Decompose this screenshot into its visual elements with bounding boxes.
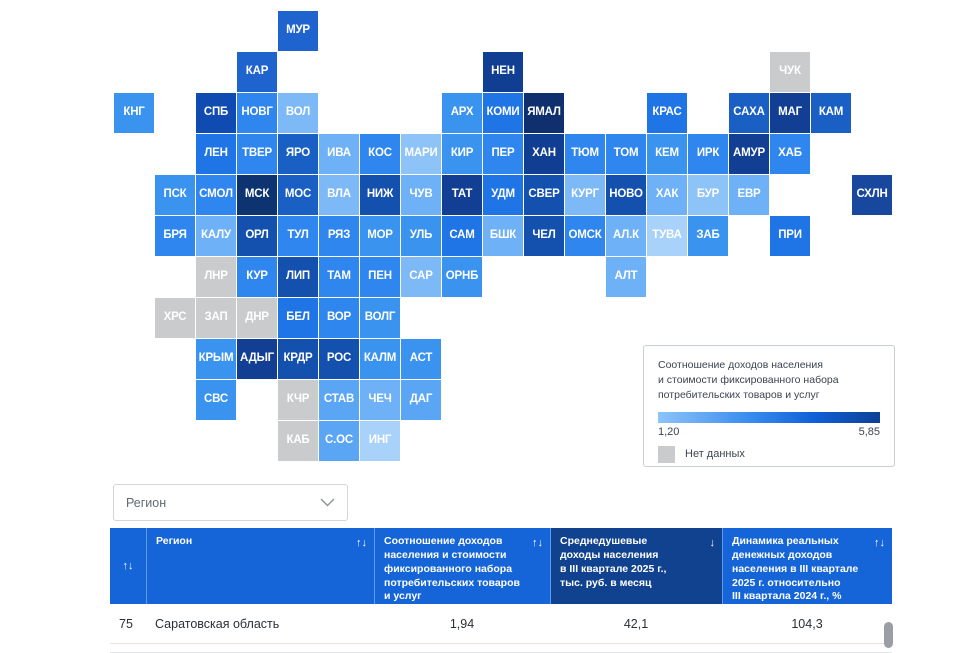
- map-tile-СПБ[interactable]: СПБ: [196, 93, 236, 133]
- map-tile-ЛНР[interactable]: ЛНР: [196, 257, 236, 297]
- legend-nodata-label: Нет данных: [685, 448, 745, 460]
- map-tile-СТАВ[interactable]: СТАВ: [319, 380, 359, 420]
- legend-nodata-swatch: [658, 446, 675, 463]
- map-tile-НОВГ[interactable]: НОВГ: [237, 93, 277, 133]
- map-tile-КОС[interactable]: КОС: [360, 134, 400, 174]
- map-tile-ИРК[interactable]: ИРК: [688, 134, 728, 174]
- map-tile-АЛ.К[interactable]: АЛ.К: [606, 216, 646, 256]
- map-tile-ЕВР[interactable]: ЕВР: [729, 175, 769, 215]
- row-dynamics-value: 104,3: [722, 617, 892, 631]
- map-tile-ВОЛ[interactable]: ВОЛ: [278, 93, 318, 133]
- map-tile-СВС[interactable]: СВС: [196, 380, 236, 420]
- sort-toggle-icon-1[interactable]: ↑↓: [356, 536, 367, 551]
- map-tile-ТЮМ[interactable]: ТЮМ: [565, 134, 605, 174]
- map-tile-МСК[interactable]: МСК: [237, 175, 277, 215]
- map-tile-КАБ[interactable]: КАБ: [278, 421, 318, 461]
- sort-toggle-icon-3[interactable]: ↓: [710, 536, 716, 551]
- map-tile-МОС[interactable]: МОС: [278, 175, 318, 215]
- legend-nodata-row: Нет данных: [658, 446, 880, 463]
- row-income-value: 42,1: [550, 617, 722, 631]
- map-tile-ВОЛГ[interactable]: ВОЛГ: [360, 298, 400, 338]
- map-tile-ЯРО[interactable]: ЯРО: [278, 134, 318, 174]
- map-tile-МУР[interactable]: МУР: [278, 11, 318, 51]
- map-tile-СМОЛ[interactable]: СМОЛ: [196, 175, 236, 215]
- table-header-cell-3[interactable]: Среднедушевые доходы населения в III ква…: [550, 528, 722, 604]
- map-tile-НИЖ[interactable]: НИЖ: [360, 175, 400, 215]
- map-tile-МАГ[interactable]: МАГ: [770, 93, 810, 133]
- map-tile-СХЛН[interactable]: СХЛН: [852, 175, 892, 215]
- map-tile-ЧЕЛ[interactable]: ЧЕЛ: [524, 216, 564, 256]
- map-tile-АДЫГ[interactable]: АДЫГ: [237, 339, 277, 379]
- chevron-down-icon: [320, 498, 335, 507]
- region-filter-label: Регион: [126, 496, 320, 510]
- map-tile-ВЛА[interactable]: ВЛА: [319, 175, 359, 215]
- map-tile-ПЕН[interactable]: ПЕН: [360, 257, 400, 297]
- map-tile-РЯЗ[interactable]: РЯЗ: [319, 216, 359, 256]
- map-tile-ТУВА[interactable]: ТУВА: [647, 216, 687, 256]
- map-tile-БУР[interactable]: БУР: [688, 175, 728, 215]
- map-tile-КРЫМ[interactable]: КРЫМ: [196, 339, 236, 379]
- map-tile-ВОР[interactable]: ВОР: [319, 298, 359, 338]
- map-tile-НОВО[interactable]: НОВО: [606, 175, 646, 215]
- map-tile-САМ[interactable]: САМ: [442, 216, 482, 256]
- sort-toggle-icon-2[interactable]: ↑↓: [532, 536, 543, 551]
- map-tile-ДНР[interactable]: ДНР: [237, 298, 277, 338]
- map-tile-ИВА[interactable]: ИВА: [319, 134, 359, 174]
- map-tile-АЛТ[interactable]: АЛТ: [606, 257, 646, 297]
- map-tile-С.ОС[interactable]: С.ОС: [319, 421, 359, 461]
- map-tile-ЧУК[interactable]: ЧУК: [770, 52, 810, 92]
- sort-toggle-icon-0[interactable]: ↑↓: [123, 559, 134, 574]
- table-header-label-4: Динамика реальных денежных доходов насел…: [732, 535, 858, 602]
- map-tile-СВЕР[interactable]: СВЕР: [524, 175, 564, 215]
- map-tile-БРЯ[interactable]: БРЯ: [155, 216, 195, 256]
- map-tile-КЧР[interactable]: КЧР: [278, 380, 318, 420]
- table-header-row: ↑↓Регион↑↓Соотношение доходов населения …: [110, 528, 892, 604]
- map-tile-КЕМ[interactable]: КЕМ: [647, 134, 687, 174]
- map-tile-ОРНБ[interactable]: ОРНБ: [442, 257, 482, 297]
- map-tile-ОРЛ[interactable]: ОРЛ: [237, 216, 277, 256]
- legend-scale: 1,20 5,85: [658, 426, 880, 438]
- row-index: 75: [110, 617, 146, 631]
- map-tile-АМУР[interactable]: АМУР: [729, 134, 769, 174]
- map-tile-АРХ[interactable]: АРХ: [442, 93, 482, 133]
- map-tile-ЯМАЛ[interactable]: ЯМАЛ: [524, 93, 564, 133]
- map-tile-ТВЕР[interactable]: ТВЕР: [237, 134, 277, 174]
- map-tile-БШК[interactable]: БШК: [483, 216, 523, 256]
- map-tile-МАРИ[interactable]: МАРИ: [401, 134, 441, 174]
- map-tile-КУР[interactable]: КУР: [237, 257, 277, 297]
- map-tile-ХРС[interactable]: ХРС: [155, 298, 195, 338]
- region-filter-dropdown[interactable]: Регион: [113, 484, 348, 521]
- map-tile-КИР[interactable]: КИР: [442, 134, 482, 174]
- map-tile-ТАМ[interactable]: ТАМ: [319, 257, 359, 297]
- map-tile-КОМИ[interactable]: КОМИ: [483, 93, 523, 133]
- legend-min-label: 1,20: [658, 426, 679, 438]
- row-ratio-value: 1,94: [374, 617, 550, 631]
- map-tile-ЗАП[interactable]: ЗАП: [196, 298, 236, 338]
- map-legend: Соотношение доходов населения и стоимост…: [643, 345, 895, 467]
- map-tile-УДМ[interactable]: УДМ: [483, 175, 523, 215]
- row-region-name: Саратовская область: [146, 617, 374, 631]
- map-tile-ЛЕН[interactable]: ЛЕН: [196, 134, 236, 174]
- map-tile-ТОМ[interactable]: ТОМ: [606, 134, 646, 174]
- map-tile-ПСК[interactable]: ПСК: [155, 175, 195, 215]
- legend-max-label: 5,85: [859, 426, 880, 438]
- map-tile-ЛИП[interactable]: ЛИП: [278, 257, 318, 297]
- regions-table: ↑↓Регион↑↓Соотношение доходов населения …: [110, 528, 892, 644]
- map-tile-ХАК[interactable]: ХАК: [647, 175, 687, 215]
- table-header-label-1: Регион: [156, 535, 192, 547]
- map-tile-КРАС[interactable]: КРАС: [647, 93, 687, 133]
- table-header-cell-2[interactable]: Соотношение доходов населения и стоимост…: [374, 528, 550, 604]
- map-tile-КРДР[interactable]: КРДР: [278, 339, 318, 379]
- map-tile-ХАБ[interactable]: ХАБ: [770, 134, 810, 174]
- legend-title: Соотношение доходов населения и стоимост…: [658, 358, 880, 404]
- map-tile-КАЛУ[interactable]: КАЛУ: [196, 216, 236, 256]
- map-tile-САХА[interactable]: САХА: [729, 93, 769, 133]
- table-header-label-2: Соотношение доходов населения и стоимост…: [384, 535, 520, 602]
- map-tile-ХАН[interactable]: ХАН: [524, 134, 564, 174]
- table-header-cell-0[interactable]: ↑↓: [110, 528, 146, 604]
- map-tile-КАМ[interactable]: КАМ: [811, 93, 851, 133]
- map-tile-ТАТ[interactable]: ТАТ: [442, 175, 482, 215]
- map-tile-РОС[interactable]: РОС: [319, 339, 359, 379]
- map-tile-МОР[interactable]: МОР: [360, 216, 400, 256]
- map-tile-ПЕР[interactable]: ПЕР: [483, 134, 523, 174]
- map-tile-ОМСК[interactable]: ОМСК: [565, 216, 605, 256]
- map-tile-ПРИ[interactable]: ПРИ: [770, 216, 810, 256]
- map-tile-ИНГ[interactable]: ИНГ: [360, 421, 400, 461]
- sort-toggle-icon-4[interactable]: ↑↓: [874, 536, 885, 551]
- map-tile-САР[interactable]: САР: [401, 257, 441, 297]
- map-tile-КАР[interactable]: КАР: [237, 52, 277, 92]
- table-row[interactable]: 75Саратовская область1,9442,1104,3: [110, 604, 892, 644]
- map-tile-КАЛМ[interactable]: КАЛМ: [360, 339, 400, 379]
- legend-color-ramp: [658, 412, 880, 423]
- map-tile-ЧЕЧ[interactable]: ЧЕЧ: [360, 380, 400, 420]
- map-tile-КУРГ[interactable]: КУРГ: [565, 175, 605, 215]
- map-tile-АСТ[interactable]: АСТ: [401, 339, 441, 379]
- map-tile-ЗАБ[interactable]: ЗАБ: [688, 216, 728, 256]
- table-header-cell-1[interactable]: Регион↑↓: [146, 528, 374, 604]
- map-tile-КНГ[interactable]: КНГ: [114, 93, 154, 133]
- map-tile-ДАГ[interactable]: ДАГ: [401, 380, 441, 420]
- map-tile-УЛЬ[interactable]: УЛЬ: [401, 216, 441, 256]
- table-scrollbar-thumb[interactable]: [884, 622, 893, 648]
- map-tile-НЕН[interactable]: НЕН: [483, 52, 523, 92]
- map-tile-ЧУВ[interactable]: ЧУВ: [401, 175, 441, 215]
- table-header-label-3: Среднедушевые доходы населения в III ква…: [560, 535, 666, 589]
- map-tile-БЕЛ[interactable]: БЕЛ: [278, 298, 318, 338]
- table-header-cell-4[interactable]: Динамика реальных денежных доходов насел…: [722, 528, 892, 604]
- map-tile-ТУЛ[interactable]: ТУЛ: [278, 216, 318, 256]
